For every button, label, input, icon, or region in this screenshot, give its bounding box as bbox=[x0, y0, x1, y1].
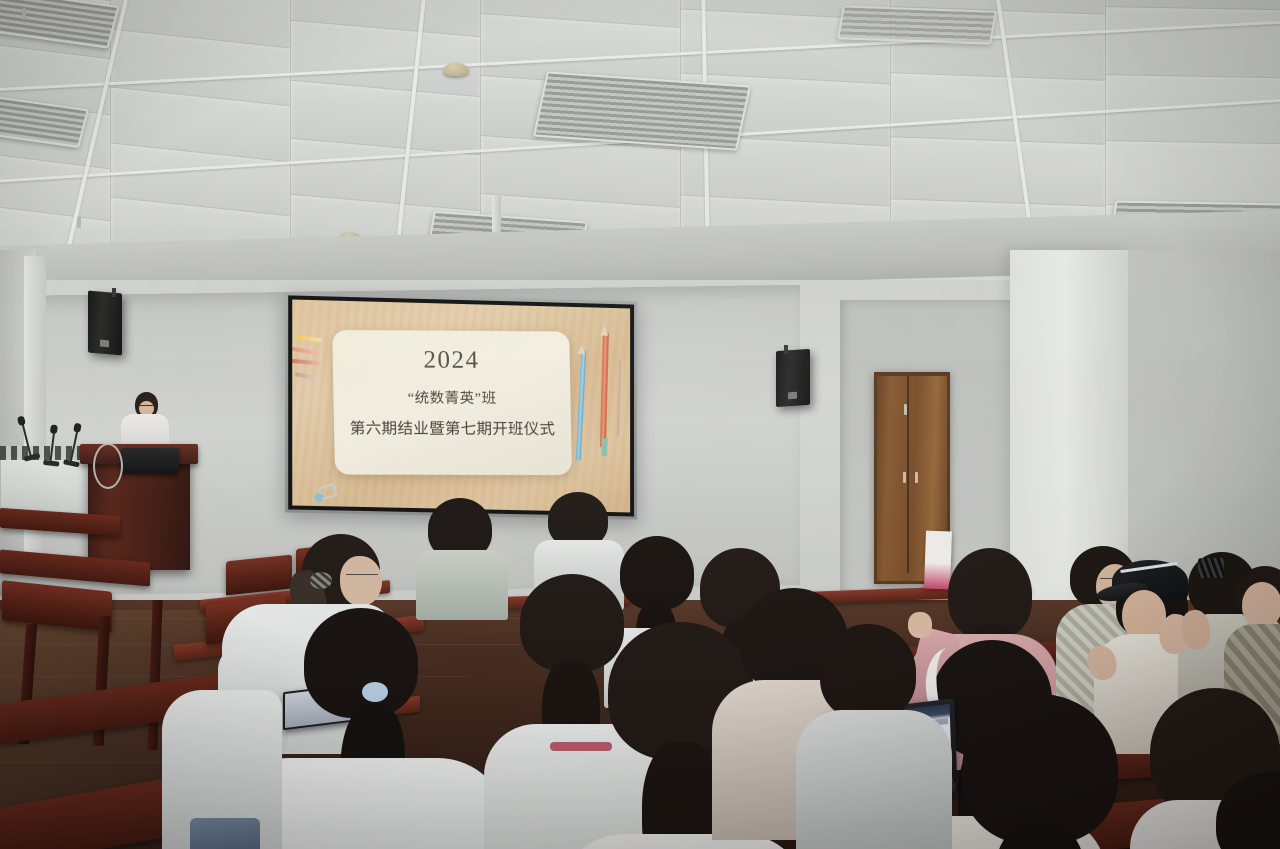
slide-content: 2024 “统数菁英”班 第六期结业暨第七期开班仪式 bbox=[292, 299, 630, 512]
pencil-orange-icon bbox=[600, 332, 608, 446]
ponytail bbox=[642, 742, 722, 849]
seat-back bbox=[226, 555, 292, 596]
photo-scene: 2024 “统数菁英”班 第六期结业暨第七期开班仪式 bbox=[0, 0, 1280, 849]
face bbox=[340, 556, 382, 606]
presenter-laptop bbox=[120, 448, 179, 474]
door-center-seam bbox=[907, 376, 909, 573]
cable-coil bbox=[93, 443, 123, 489]
wall-speaker-left bbox=[88, 291, 122, 356]
hair-tie bbox=[310, 572, 332, 589]
hand bbox=[908, 612, 932, 638]
slide-ceremony-line: 第六期结业暨第七期开班仪式 bbox=[324, 416, 580, 439]
hair-tie bbox=[362, 682, 388, 702]
slide-program-line: “统数菁英”班 bbox=[333, 386, 570, 408]
hair bbox=[304, 608, 418, 718]
sprinkler-icon bbox=[22, 8, 26, 20]
hair bbox=[820, 624, 916, 720]
pin-icon bbox=[314, 493, 323, 502]
face bbox=[1242, 582, 1280, 628]
torso bbox=[416, 550, 508, 620]
glasses-icon bbox=[346, 574, 378, 575]
slide-card: 2024 “统数菁英”班 第六期结业暨第七期开班仪式 bbox=[332, 330, 571, 475]
air-vent bbox=[837, 5, 997, 44]
pencil-blue-icon bbox=[575, 350, 586, 460]
projection-screen: 2024 “统数菁英”班 第六期结业暨第七期开班仪式 bbox=[285, 292, 637, 519]
hair bbox=[520, 574, 624, 672]
screen-frame: 2024 “统数菁英”班 第六期结业暨第七期开班仪式 bbox=[288, 295, 634, 516]
torso bbox=[796, 710, 952, 849]
wall-speaker-right bbox=[776, 349, 810, 407]
jeans bbox=[190, 818, 260, 849]
roll-up-banner bbox=[924, 531, 952, 590]
glasses-icon bbox=[139, 405, 154, 410]
slide-year: 2024 bbox=[332, 345, 569, 374]
smoke-detector-icon bbox=[443, 63, 469, 76]
hair bbox=[620, 536, 694, 610]
hair-clip-icon bbox=[1198, 558, 1224, 578]
sprinkler-icon bbox=[77, 216, 81, 228]
pencil-small-icon bbox=[617, 359, 624, 437]
